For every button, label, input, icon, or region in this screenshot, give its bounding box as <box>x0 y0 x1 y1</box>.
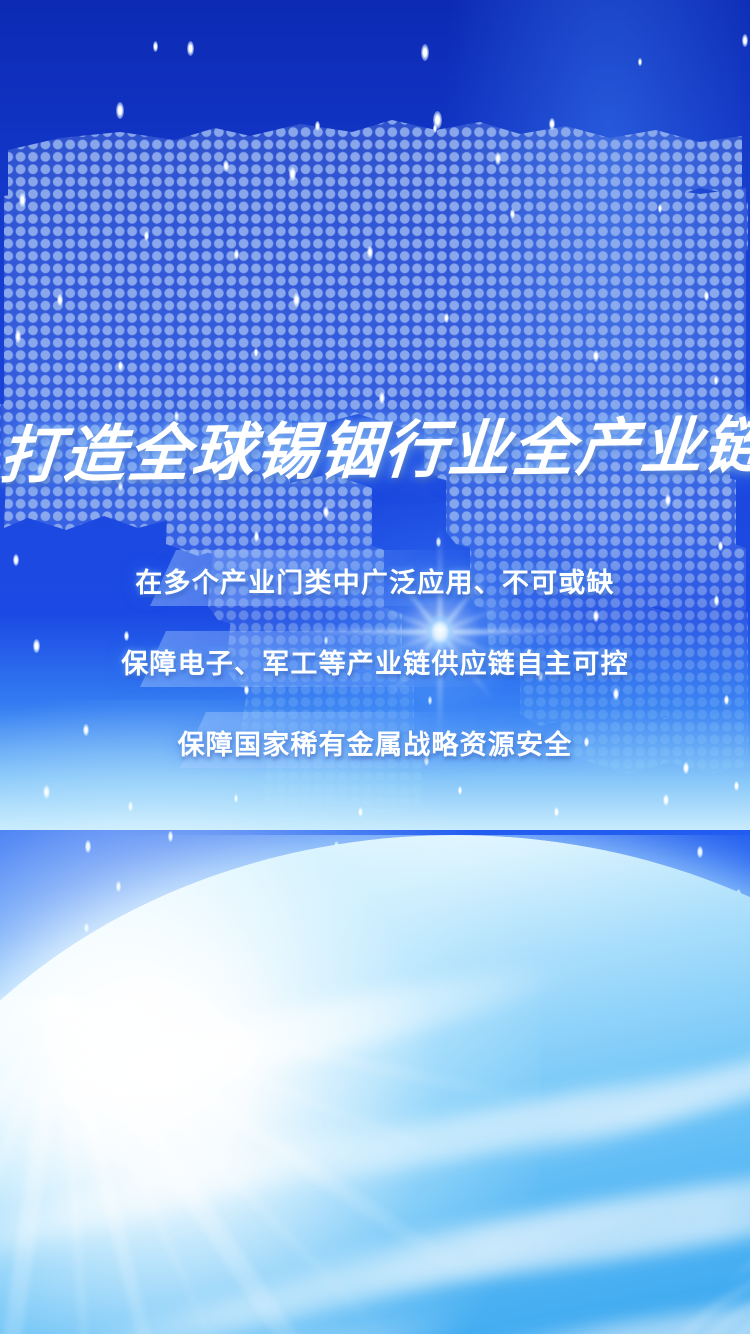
poster-subtitle-1: 在多个产业门类中广泛应用、不可或缺 <box>0 561 750 600</box>
earth-globe <box>0 835 750 1334</box>
poster-subtitle-2: 保障电子、军工等产业链供应链自主可控 <box>0 642 750 681</box>
poster-subtitle-3: 保障国家稀有金属战略资源安全 <box>0 723 750 762</box>
poster-title: 打造全球锡铟行业全产业链链主 <box>0 413 750 489</box>
poster-canvas: 打造全球锡铟行业全产业链链主 在多个产业门类中广泛应用、不可或缺 保障电子、军工… <box>0 0 750 1334</box>
earth-cloud-bands <box>0 835 750 1334</box>
